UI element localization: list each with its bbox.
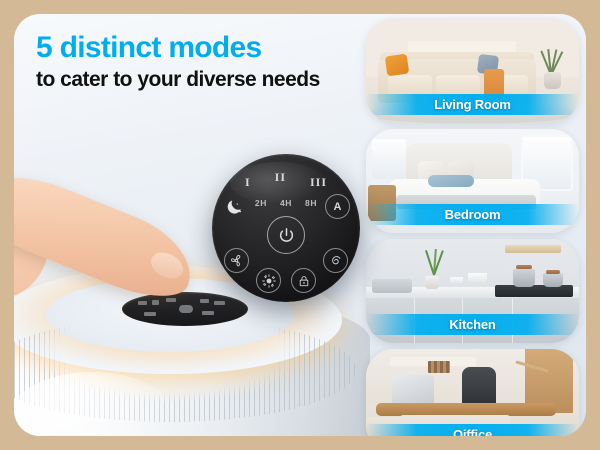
speed-low-label[interactable]: I xyxy=(245,176,251,188)
speed-medium-label[interactable]: II xyxy=(275,171,286,188)
room-label-office: Oiffice xyxy=(366,424,579,436)
sun-light-icon[interactable] xyxy=(256,268,281,293)
timer-4h-label[interactable]: 4H xyxy=(280,198,292,208)
room-label-kitchen: Kitchen xyxy=(366,314,579,335)
speed-high-label[interactable]: III xyxy=(310,176,327,188)
timer-8h-label[interactable]: 8H xyxy=(305,198,317,208)
page-subtitle: to cater to your diverse needs xyxy=(36,68,381,92)
fan-speed-row: I II III xyxy=(212,176,360,188)
product-feature-banner: 5 distinct modes to cater to your divers… xyxy=(0,0,600,450)
air-quality-icon[interactable] xyxy=(323,248,348,273)
hand-pressing-button xyxy=(14,200,204,340)
timer-2h-label[interactable]: 2H xyxy=(255,198,267,208)
room-card-bedroom[interactable]: Bedroom xyxy=(366,129,579,233)
index-finger xyxy=(14,160,204,311)
fan-icon[interactable] xyxy=(224,248,249,273)
headline-block: 5 distinct modes to cater to your divers… xyxy=(36,32,381,92)
moon-icon[interactable] xyxy=(222,194,247,219)
room-scenario-list: Living Room Bedroom xyxy=(366,17,582,436)
room-card-office[interactable]: Oiffice xyxy=(366,349,579,436)
office-photo xyxy=(366,349,579,436)
control-dial-closeup[interactable]: I II III 2H 4H 8H A xyxy=(212,154,360,302)
power-button[interactable] xyxy=(267,216,305,254)
page-title: 5 distinct modes xyxy=(36,32,381,64)
auto-mode-icon[interactable]: A xyxy=(325,194,350,219)
banner-card: 5 distinct modes to cater to your divers… xyxy=(14,14,586,436)
child-lock-icon[interactable] xyxy=(291,268,316,293)
auto-mode-letter: A xyxy=(334,201,342,213)
room-label-bedroom: Bedroom xyxy=(366,204,579,225)
room-card-living-room[interactable]: Living Room xyxy=(366,19,579,123)
room-card-kitchen[interactable]: Kitchen xyxy=(366,239,579,343)
room-label-living-room: Living Room xyxy=(366,94,579,115)
